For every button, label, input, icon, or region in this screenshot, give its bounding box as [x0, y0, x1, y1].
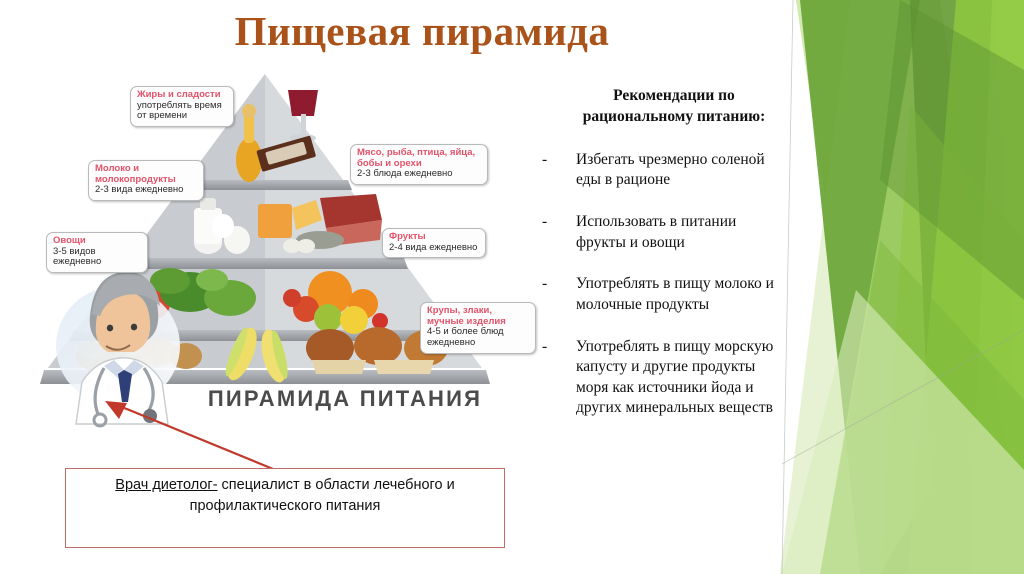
recommendation-item: - Избегать чрезмерно соленой еды в рацио… [540, 150, 790, 191]
callout-milk-products: Молоко и молокопродукты 2-3 вида ежеднев… [88, 160, 204, 201]
recommendation-text: Избегать чрезмерно соленой еды в рационе [576, 151, 765, 189]
recommendation-text: Употреблять в пищу молоко и молочные про… [576, 275, 774, 313]
recommendations-panel: Рекомендации по рациональному питанию: -… [540, 86, 790, 440]
nutritionist-definition: специалист в области лечебного и профила… [190, 477, 455, 514]
callout-detail: употреблять время от времени [137, 101, 228, 122]
recommendations-heading: Рекомендации по рациональному питанию: [540, 86, 790, 128]
callout-fats-and-sweets: Жиры и сладости употреблять время от вре… [130, 86, 234, 127]
recommendations-list: - Избегать чрезмерно соленой еды в рацио… [540, 150, 790, 419]
callout-detail: 4-5 и более блюд ежедневно [427, 327, 530, 348]
green-angular-shapes-decoration [760, 0, 1024, 574]
nutritionist-definition-box: Врач диетолог- специалист в области лече… [65, 468, 505, 548]
callout-detail: 2-4 вида ежедневно [389, 243, 480, 254]
recommendation-item: - Употреблять в пищу морскую капусту и д… [540, 337, 790, 419]
nutritionist-term: Врач диетолог- [115, 477, 217, 493]
callout-fruits: Фрукты 2-4 вида ежедневно [382, 228, 486, 258]
bullet-dash-icon: - [542, 337, 547, 358]
pointer-arrow-icon [95, 395, 285, 475]
callout-detail: 2-3 блюда ежедневно [357, 169, 482, 180]
bullet-dash-icon: - [542, 274, 547, 295]
callout-detail: 3-5 видов ежедневно [53, 247, 142, 268]
callout-detail: 2-3 вида ежедневно [95, 185, 198, 196]
callout-meat-fish-eggs: Мясо, рыба, птица, яйца, бобы и орехи 2-… [350, 144, 488, 185]
recommendation-item: - Употреблять в пищу молоко и молочные п… [540, 274, 790, 315]
callout-heading: Молоко и молокопродукты [95, 164, 198, 185]
callout-heading: Крупы, злаки, мучные изделия [427, 306, 530, 327]
callout-heading: Мясо, рыба, птица, яйца, бобы и орехи [357, 148, 482, 169]
page-title: Пищевая пирамида [182, 8, 662, 55]
slide: Пищевая пирамида [0, 0, 1024, 574]
food-pyramid-illustration: Жиры и сладости употреблять время от вре… [30, 68, 530, 428]
callout-vegetables: Овощи 3-5 видов ежедневно [46, 232, 148, 273]
callout-grains: Крупы, злаки, мучные изделия 4-5 и более… [420, 302, 536, 354]
recommendation-text: Употреблять в пищу морскую капусту и дру… [576, 338, 773, 417]
recommendation-item: - Использовать в питании фрукты и овощи [540, 212, 790, 253]
bullet-dash-icon: - [542, 212, 547, 233]
bullet-dash-icon: - [542, 150, 547, 171]
recommendation-text: Использовать в питании фрукты и овощи [576, 213, 736, 251]
